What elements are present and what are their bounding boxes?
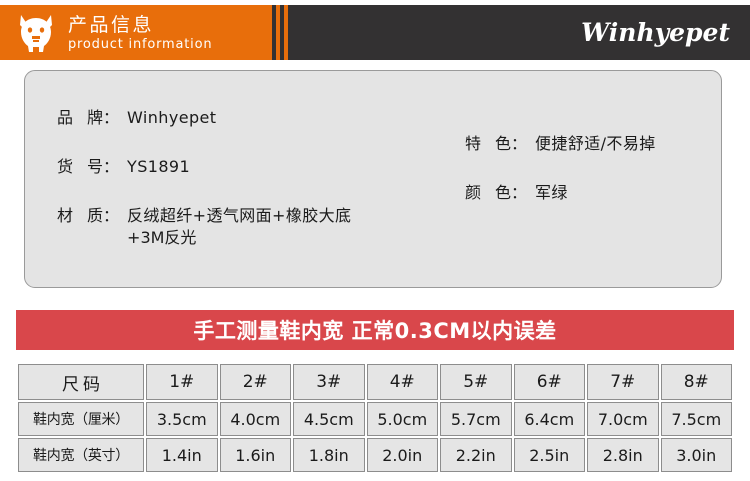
table-header-size-5: 5# [440,364,512,400]
info-value-color: 军绿 [535,182,568,204]
table-header-size-4: 4# [367,364,439,400]
table-row: 鞋内宽（厘米） 3.5cm 4.0cm 4.5cm 5.0cm 5.7cm 6.… [18,402,732,436]
table-cell-inch-4: 2.0in [367,438,439,472]
table-header-size-8: 8# [661,364,733,400]
info-row-color: 颜色： 军绿 [465,182,715,204]
info-column-right: 特色： 便捷舒适/不易掉 颜色： 军绿 [465,133,715,204]
table-cell-cm-5: 5.7cm [440,402,512,436]
table-cell-cm-7: 7.0cm [587,402,659,436]
info-column-left: 品牌： Winhyepet 货号： YS1891 材质： 反绒超纤+透气网面+橡… [57,107,457,249]
table-header-size-7: 7# [587,364,659,400]
page-header: 产品信息 product information Winhyepet [0,5,750,60]
info-row-brand: 品牌： Winhyepet [57,107,457,129]
info-label-model: 货号： [57,156,119,178]
table-cell-cm-4: 5.0cm [367,402,439,436]
header-title-en: product information [68,37,212,53]
table-row: 鞋内宽（英寸） 1.4in 1.6in 1.8in 2.0in 2.2in 2.… [18,438,732,472]
info-value-material: 反绒超纤+透气网面+橡胶大底+3M反光 [127,205,351,249]
table-rowlabel-cm: 鞋内宽（厘米） [18,402,144,436]
table-header-size-6: 6# [514,364,586,400]
info-row-material: 材质： 反绒超纤+透气网面+橡胶大底+3M反光 [57,205,457,249]
table-header-size-1: 1# [146,364,218,400]
info-label-material: 材质： [57,205,119,227]
table-rowlabel-inch: 鞋内宽（英寸） [18,438,144,472]
info-row-model: 货号： YS1891 [57,156,457,178]
table-cell-cm-3: 4.5cm [293,402,365,436]
table-header-size-3: 3# [293,364,365,400]
info-label-color: 颜色： [465,182,527,204]
info-value-brand: Winhyepet [127,107,216,129]
header-accent-stripe-2 [284,5,288,60]
table-cell-inch-8: 3.0in [661,438,733,472]
table-cell-cm-6: 6.4cm [514,402,586,436]
table-cell-inch-6: 2.5in [514,438,586,472]
table-cell-inch-3: 1.8in [293,438,365,472]
table-cell-inch-7: 2.8in [587,438,659,472]
brand-logo-text: Winhyepet [581,18,730,47]
size-chart-table: 尺码 1# 2# 3# 4# 5# 6# 7# 8# 鞋内宽（厘米） 3.5cm… [16,362,734,474]
info-value-model: YS1891 [127,156,190,178]
measurement-notice-banner: 手工测量鞋内宽 正常0.3CM以内误差 [16,310,734,350]
table-cell-cm-2: 4.0cm [220,402,292,436]
table-cell-cm-8: 7.5cm [661,402,733,436]
info-value-material-line2: +3M反光 [127,227,351,249]
product-info-panel: 品牌： Winhyepet 货号： YS1891 材质： 反绒超纤+透气网面+橡… [24,70,722,288]
header-title-cn: 产品信息 [68,14,212,36]
table-header-size: 尺码 [18,364,144,400]
measurement-notice-text: 手工测量鞋内宽 正常0.3CM以内误差 [193,315,556,345]
header-accent-stripe-1 [276,5,280,60]
dog-head-logo-icon [14,13,58,53]
size-chart-body: 尺码 1# 2# 3# 4# 5# 6# 7# 8# 鞋内宽（厘米） 3.5cm… [18,364,732,472]
info-row-feature: 特色： 便捷舒适/不易掉 [465,133,715,155]
table-cell-cm-1: 3.5cm [146,402,218,436]
info-label-brand: 品牌： [57,107,119,129]
info-value-material-line1: 反绒超纤+透气网面+橡胶大底 [127,206,351,225]
table-cell-inch-5: 2.2in [440,438,512,472]
header-title-group: 产品信息 product information [68,14,212,53]
table-cell-inch-1: 1.4in [146,438,218,472]
table-header-size-2: 2# [220,364,292,400]
info-value-feature: 便捷舒适/不易掉 [535,133,656,155]
table-header-row: 尺码 1# 2# 3# 4# 5# 6# 7# 8# [18,364,732,400]
info-label-feature: 特色： [465,133,527,155]
table-cell-inch-2: 1.6in [220,438,292,472]
